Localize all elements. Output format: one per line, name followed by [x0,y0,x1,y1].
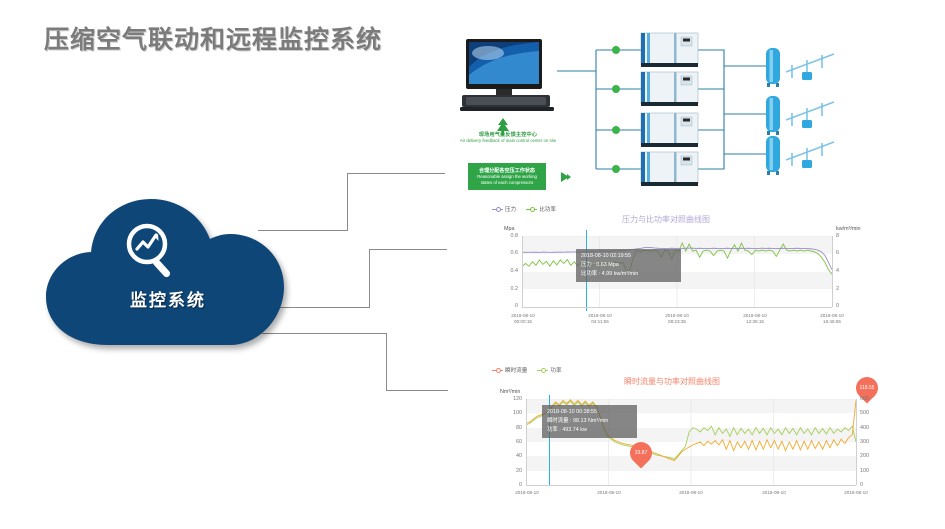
connector-line-2-segment-c [369,249,447,250]
connector-line-3-segment-b [386,333,387,390]
legend-item-specific-power[interactable]: 比功率 [526,205,556,213]
chart2-ytick-right-1: 500 [860,410,876,416]
flow-vs-power-chart: 瞬时流量 功率 瞬时流量与功率对照曲线图 Nm³/min [484,364,884,529]
chart1-title: 压力与比功率对照曲线图 [622,214,710,225]
chart2-xtick-3: 2018-08-10 [743,490,805,496]
chart2-ytick-left-3: 60 [500,439,522,445]
chart1-ytick-left-0: 0.8 [498,233,518,239]
chart1-ytick-right-4: 0 [836,303,848,309]
chart2-ytick-left-4: 40 [500,453,522,459]
connector-line-1-segment-c [347,173,445,174]
air-tank-and-pipeline [766,48,834,175]
chart1-ytick-left-1: 0.6 [498,250,518,256]
connector-line-1-segment-b [347,173,348,231]
legend-marker-pressure [492,206,503,212]
chart1-xtick-4: 2018-08-10 16:46:55 [801,313,863,325]
chart1-tooltip: 2018-08-10 02:19:55 压力 : 0.63 Mpa 比功率 : … [576,249,681,282]
connector-line-3-segment-c [386,390,448,391]
connector-line-2-segment-b [369,249,370,308]
legend-item-power[interactable]: 功率 [537,366,561,374]
chart2-axis-bottom [526,485,856,486]
chart1-tooltip-row-0: 压力 : 0.63 Mpa [581,261,676,270]
legend-marker-specific-power [526,206,537,212]
chart2-ytick-left-5: 20 [500,468,522,474]
chart1-ytick-right-2: 4 [836,268,848,274]
legend-label-power: 功率 [550,366,561,374]
chart1-xtick-0: 2018-08-10 00:00:15 [492,313,554,325]
chart2-title: 瞬时流量与功率对照曲线图 [624,376,720,387]
chart1-ytick-left-2: 0.4 [498,268,518,274]
legend-item-pressure[interactable]: 压力 [492,205,516,213]
legend-label-flow: 瞬时流量 [505,366,527,374]
chart2-ytick-right-5: 100 [860,468,876,474]
chart2-ytick-left-6: 0 [500,482,522,488]
chart2-xtick-4: 2018-08-10 [825,490,887,496]
chart1-ytick-right-0: 8 [836,233,848,239]
chart2-ytick-left-1: 100 [500,410,522,416]
chart2-tooltip: 2018-08-10 00:38:55 瞬时流量 : 98.13 Nm³/min… [542,405,637,438]
chart2-xtick-0: 2018-08-10 [496,490,558,496]
chart1-xtick-1: 2018-08-10 04:11:55 [569,313,631,325]
chart2-tooltip-row-1: 功率 : 493.74 kw [547,426,632,435]
legend-label-specific-power: 比功率 [539,205,556,213]
chart2-tooltip-time: 2018-08-10 00:38:55 [547,408,632,417]
chart1-axis-left [522,236,523,307]
chart2-ytick-left-2: 80 [500,425,522,431]
chart2-pin-min-value: 33.87 [630,442,652,464]
compressor-node-dots [612,46,620,173]
cloud-label: 监控系统 [38,286,298,311]
chart2-xtick-2: 2018-08-10 [660,490,722,496]
chart2-ylabel-left: Nm³/min [500,389,520,395]
legend-label-pressure: 压力 [505,205,516,213]
chart2-ytick-right-3: 300 [860,439,876,445]
legend-item-flow[interactable]: 瞬时流量 [492,366,527,374]
chart2-xtick-1: 2018-08-10 [578,490,640,496]
legend-marker-power [537,367,548,373]
monitoring-cloud[interactable]: 监控系统 [38,195,298,355]
page-title: 压缩空气联动和远程监控系统 [44,20,382,56]
chart1-ylabel-right: kw/m³/min [836,226,861,232]
chart1-ylabel-left: Mpa [504,226,515,232]
chart1-tooltip-row-1: 比功率 : 4.99 kw/m³/min [581,270,676,279]
chart1-ytick-left-3: 0.2 [498,286,518,292]
chart1-xtick-2: 2018-08-10 08:23:35 [646,313,708,325]
chart1-ytick-right-3: 2 [836,286,848,292]
chart2-axis-left [526,399,527,485]
chart1-xtick-3: 2018-08-10 12:35:15 [724,313,786,325]
chart1-axis-bottom [522,307,832,308]
chart2-ytick-right-0: 600 [860,396,876,402]
chart2-axis-right [856,399,857,485]
chart2-legend: 瞬时流量 功率 [492,366,562,374]
slide-canvas: 压缩空气联动和远程监控系统 监控系统 [0,0,945,529]
chart1-ytick-right-1: 6 [836,250,848,256]
chart2-ytick-right-4: 200 [860,453,876,459]
piping-schematic [436,14,941,204]
compressor-unit [641,33,698,186]
magnifier-chart-icon [122,220,184,282]
chart2-ytick-right-2: 400 [860,425,876,431]
pressure-vs-specific-power-chart: 压力 比功率 压力与比功率对照曲线图 Mpa kw/m³/min [484,203,884,338]
system-diagram-panel: 现场用气量反馈主控中心 Air delivery feedback of mai… [436,14,941,204]
legend-marker-flow [492,367,503,373]
chart1-tooltip-time: 2018-08-10 02:19:55 [581,252,676,261]
chart1-ytick-left-4: 0 [498,303,518,309]
chart2-ytick-left-0: 120 [500,396,522,402]
chart1-axis-right [832,236,833,307]
chart2-ytick-right-6: 0 [860,482,876,488]
chart2-tooltip-row-0: 瞬时流量 : 98.13 Nm³/min [547,417,632,426]
chart1-legend: 压力 比功率 [492,205,556,213]
chart2-pin-min[interactable]: 33.87 [625,437,656,468]
